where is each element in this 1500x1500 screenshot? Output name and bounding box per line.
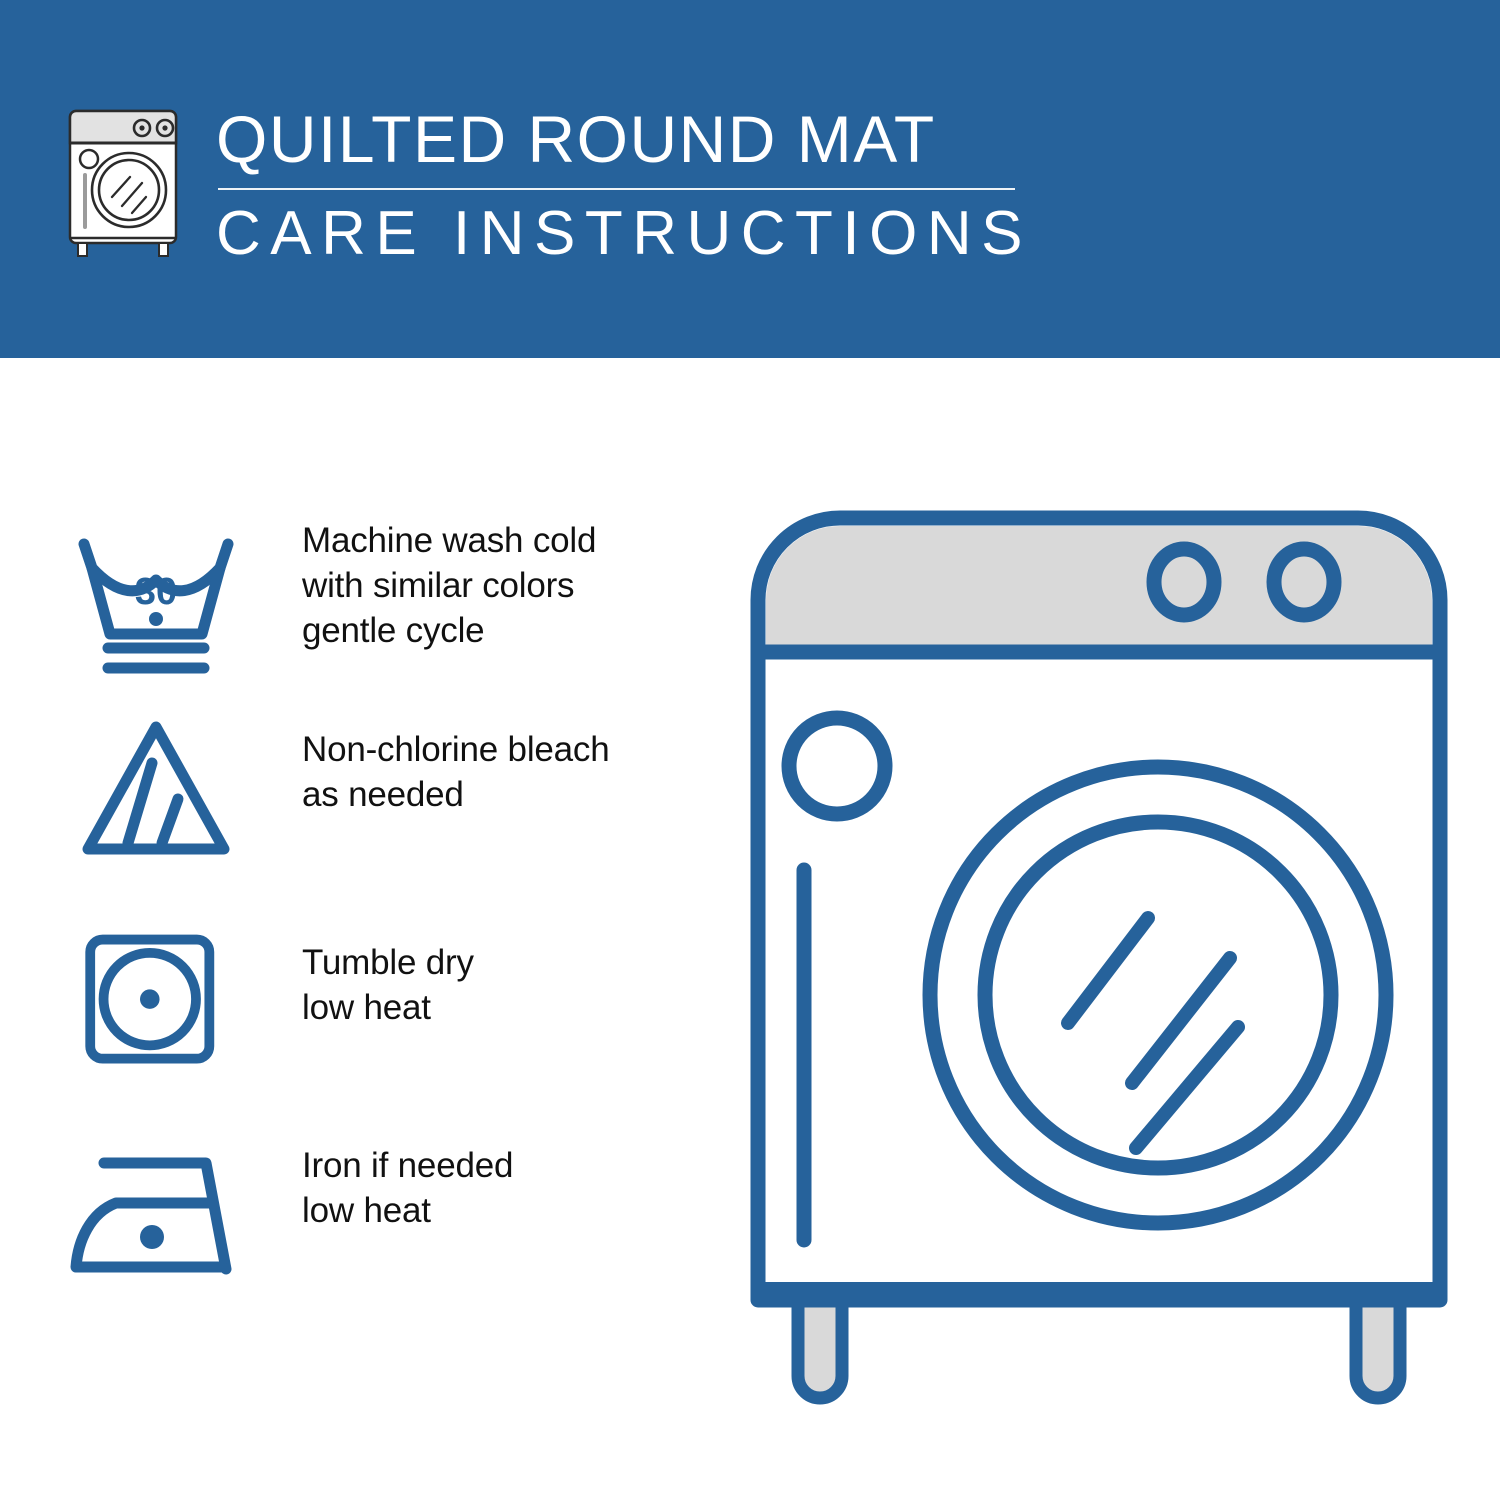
instruction-row-iron: Iron if needed low heat [0,1115,720,1330]
washing-machine-icon [62,105,192,260]
non-chlorine-bleach-symbol [66,707,246,877]
instruction-line: Iron if needed [302,1143,702,1188]
wash-temperature-value: 30 [135,571,177,613]
instruction-row-bleach: Non-chlorine bleach as needed [0,685,720,900]
care-instructions-infographic: QUILTED ROUND MAT CARE INSTRUCTIONS 30 [0,0,1500,1500]
front-load-washing-machine-illustration [740,500,1470,1430]
instruction-row-tumble-dry: Tumble dry low heat [0,900,720,1115]
instruction-line: Tumble dry [302,940,702,985]
instruction-label-tumble-dry: Tumble dry low heat [302,940,702,1030]
instruction-line: with similar colors [302,563,702,608]
header-text-block: QUILTED ROUND MAT CARE INSTRUCTIONS [216,100,1036,270]
header-banner: QUILTED ROUND MAT CARE INSTRUCTIONS [0,0,1500,358]
instruction-label-iron: Iron if needed low heat [302,1143,702,1233]
control-knob-1 [1154,549,1214,615]
iron-low-heat-symbol [60,1141,240,1311]
page-title: QUILTED ROUND MAT [216,100,1036,178]
care-instructions-list: 30 Machine wash cold with similar colors… [0,470,720,1330]
page-subtitle: CARE INSTRUCTIONS [216,198,1036,270]
control-knob-2 [1274,549,1334,615]
machine-base [751,1282,1447,1299]
machine-wash-30-gentle-symbol: 30 [66,522,246,692]
instruction-line: Machine wash cold [302,518,702,563]
instruction-line: as needed [302,772,702,817]
instruction-line: Non-chlorine bleach [302,727,702,772]
instruction-row-machine-wash: 30 Machine wash cold with similar colors… [0,470,720,685]
instruction-line: low heat [302,985,702,1030]
tumble-dry-low-symbol [76,920,256,1090]
instruction-line: low heat [302,1188,702,1233]
instruction-label-machine-wash: Machine wash cold with similar colors ge… [302,518,702,653]
instruction-label-bleach: Non-chlorine bleach as needed [302,727,702,817]
title-divider [218,188,1015,190]
instruction-line: gentle cycle [302,608,702,653]
